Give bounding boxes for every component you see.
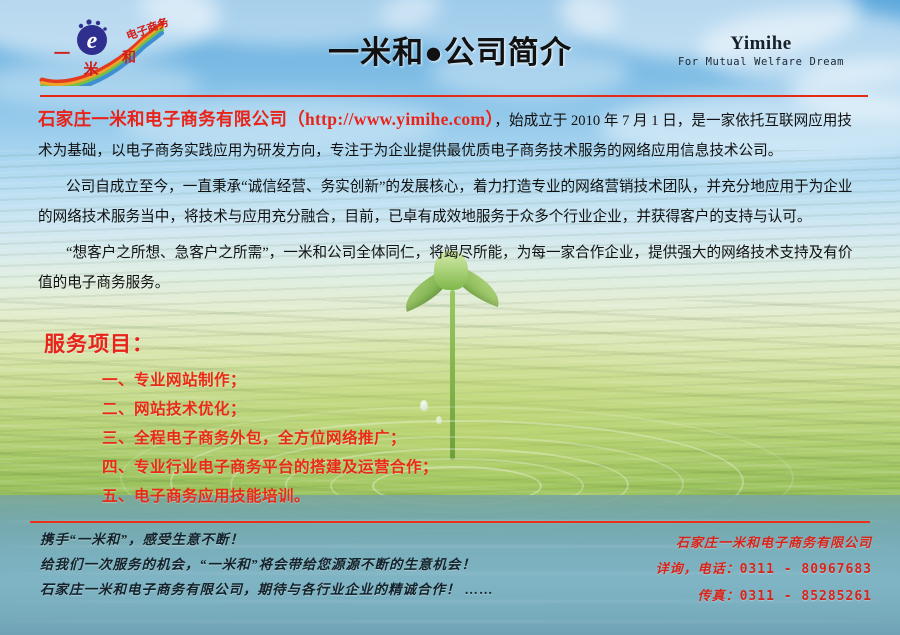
footer-phone-row: 详询，电话：0311 - 80967683 bbox=[512, 556, 872, 583]
svg-text:和: 和 bbox=[122, 50, 136, 66]
intro-copy: 石家庄一米和电子商务有限公司（http://www.yimihe.com），始成… bbox=[38, 104, 866, 304]
company-profile-poster: e 一 米 和 电子商务 一米和●公司简介 Yimihe For Mutual … bbox=[0, 0, 900, 635]
brand-block: Yimihe For Mutual Welfare Dream bbox=[656, 33, 866, 68]
page-title: 一米和●公司简介 bbox=[300, 27, 600, 72]
logo-artwork: e 一 米 和 电子商务 bbox=[36, 14, 196, 86]
footer-slogan-line: 石家庄一米和电子商务有限公司，期待与各行业企业的精诚合作！ …… bbox=[40, 577, 560, 602]
service-item: 四、专业行业电子商务平台的搭建及运营合作； bbox=[102, 453, 744, 482]
intro-paragraph-1: 石家庄一米和电子商务有限公司（http://www.yimihe.com），始成… bbox=[38, 104, 866, 166]
svg-text:e: e bbox=[87, 28, 98, 54]
footer-slogan-block: 携手“一米和”，感受生意不断！ 给我们一次服务的机会，“一米和”将会带给您源源不… bbox=[40, 527, 560, 602]
services-section: 服务项目： 一、专业网站制作； 二、网站技术优化； 三、全程电子商务外包，全方位… bbox=[44, 328, 744, 511]
fax-label: 传真： bbox=[698, 588, 740, 603]
company-logo: e 一 米 和 电子商务 bbox=[36, 14, 196, 86]
water-streak bbox=[0, 620, 900, 623]
company-name-highlight: 石家庄一米和电子商务有限公司 bbox=[38, 109, 287, 129]
intro-paragraph-2: 公司自成立至今，一直秉承“诚信经营、务实创新”的发展核心，着力打造专业的网络营销… bbox=[38, 172, 866, 232]
svg-text:一: 一 bbox=[54, 46, 70, 63]
intro-paragraph-3: “想客户之所想、急客户之所需”，一米和公司全体同仁，将竭尽所能，为每一家合作企业… bbox=[38, 238, 866, 298]
header-divider-rule bbox=[40, 95, 868, 97]
service-item: 五、电子商务应用技能培训。 bbox=[102, 482, 744, 511]
footer-contact-block: 石家庄一米和电子商务有限公司 详询，电话：0311 - 80967683 传真：… bbox=[512, 530, 872, 610]
brand-slogan: For Mutual Welfare Dream bbox=[656, 56, 866, 68]
fax-number: 0311 - 85285261 bbox=[740, 589, 872, 604]
footer-divider-rule bbox=[30, 521, 870, 523]
brand-name-en: Yimihe bbox=[656, 33, 866, 55]
service-item: 二、网站技术优化； bbox=[102, 395, 744, 424]
service-item: 三、全程电子商务外包，全方位网络推广； bbox=[102, 424, 744, 453]
service-item: 一、专业网站制作； bbox=[102, 366, 744, 395]
services-heading: 服务项目： bbox=[44, 328, 744, 358]
poster-header: e 一 米 和 电子商务 一米和●公司简介 Yimihe For Mutual … bbox=[0, 0, 900, 95]
footer-fax-row: 传真：0311 - 85285261 bbox=[512, 583, 872, 610]
company-url[interactable]: （http://www.yimihe.com） bbox=[287, 109, 494, 129]
footer-slogan-line: 给我们一次服务的机会，“一米和”将会带给您源源不断的生意机会！ bbox=[40, 552, 560, 577]
phone-label: 详询，电话： bbox=[656, 561, 740, 576]
footer-company-name: 石家庄一米和电子商务有限公司 bbox=[512, 530, 872, 556]
footer-slogan-line: 携手“一米和”，感受生意不断！ bbox=[40, 527, 560, 552]
services-list: 一、专业网站制作； 二、网站技术优化； 三、全程电子商务外包，全方位网络推广； … bbox=[102, 366, 744, 511]
phone-number: 0311 - 80967683 bbox=[740, 562, 872, 577]
founded-date-text: ，始成立于 2010 年 7 月 1 日， bbox=[494, 113, 691, 129]
svg-text:米: 米 bbox=[83, 60, 99, 78]
